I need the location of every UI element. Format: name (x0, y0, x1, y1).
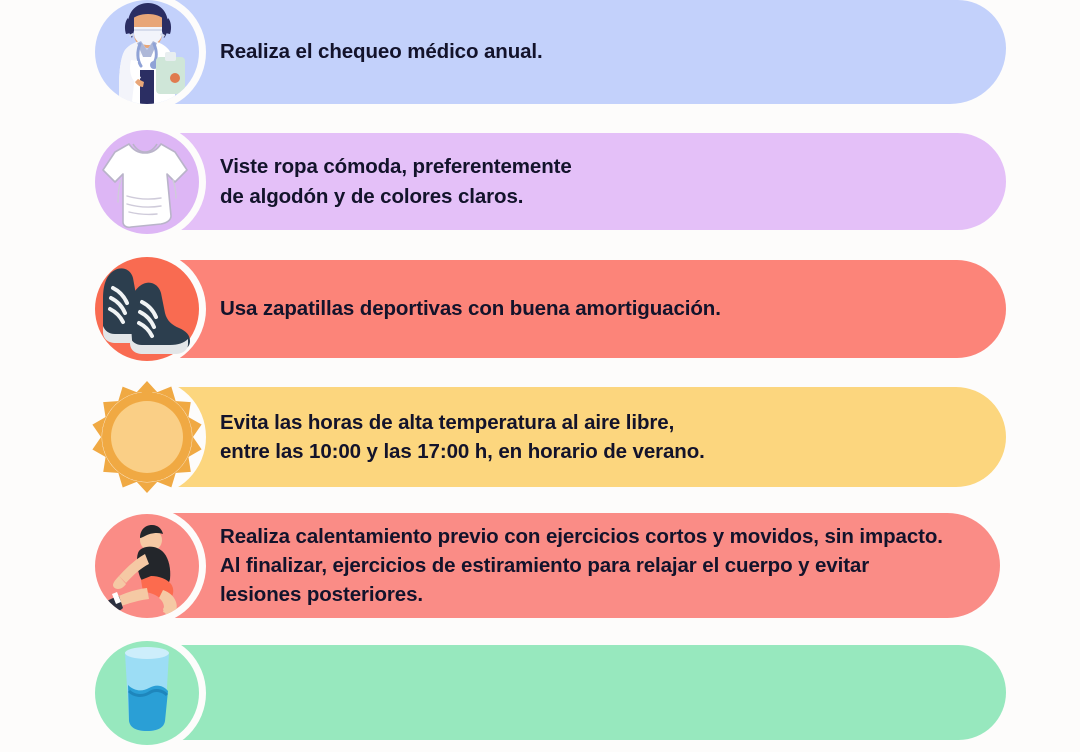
stretching-person-icon (95, 514, 199, 618)
tip-icon-badge (88, 634, 206, 752)
tip-bar: Viste ropa cómoda, preferentemente de al… (148, 133, 1006, 230)
tip-row: Realiza el chequeo médico anual. (0, 0, 1080, 104)
tip-text: Viste ropa cómoda, preferentemente de al… (148, 152, 612, 210)
sneakers-icon (95, 257, 199, 361)
tip-row: Realiza calentamiento previo con ejercic… (0, 513, 1080, 618)
tip-row: Viste ropa cómoda, preferentemente de al… (0, 133, 1080, 230)
tip-bar: Usa zapatillas deportivas con buena amor… (148, 260, 1006, 358)
tshirt-icon (95, 130, 199, 234)
tip-row (0, 645, 1080, 740)
tip-bar (148, 645, 1006, 740)
tip-bar: Evita las horas de alta temperatura al a… (148, 387, 1006, 487)
tip-text: Realiza calentamiento previo con ejercic… (148, 522, 983, 609)
tip-text: Usa zapatillas deportivas con buena amor… (148, 294, 761, 323)
tip-icon-badge (88, 507, 206, 625)
tip-bar: Realiza calentamiento previo con ejercic… (148, 513, 1000, 618)
tip-row: Evita las horas de alta temperatura al a… (0, 387, 1080, 487)
tip-icon-badge (88, 378, 206, 496)
tip-bar: Realiza el chequeo médico anual. (148, 0, 1006, 104)
tip-icon-badge (88, 250, 206, 368)
sun-icon (95, 385, 199, 489)
doctor-icon (95, 0, 199, 104)
tip-icon-badge (88, 123, 206, 241)
tip-row: Usa zapatillas deportivas con buena amor… (0, 260, 1080, 358)
water-glass-icon (95, 641, 199, 745)
tip-icon-badge (88, 0, 206, 111)
tip-text: Realiza el chequeo médico anual. (148, 37, 583, 66)
tip-text: Evita las horas de alta temperatura al a… (148, 408, 745, 466)
infographic-container: Realiza el chequeo médico anual. (0, 0, 1080, 675)
